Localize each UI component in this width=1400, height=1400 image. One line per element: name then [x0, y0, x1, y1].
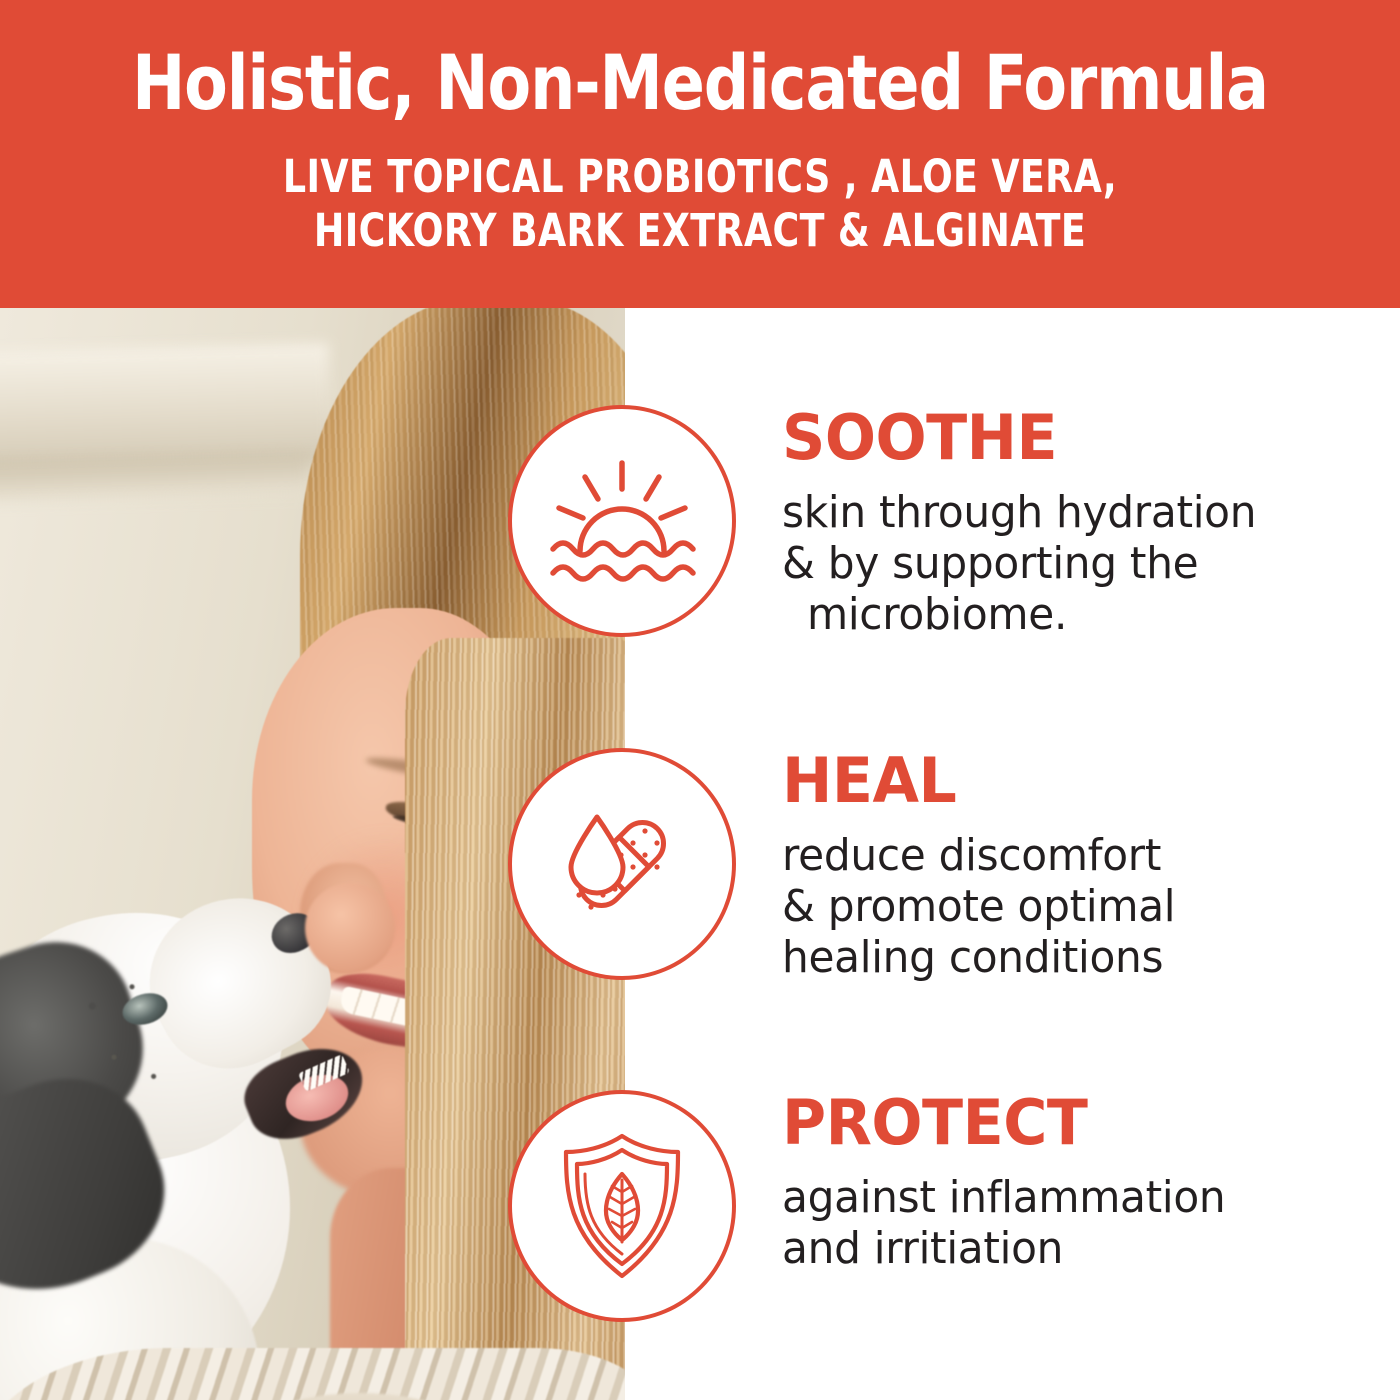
benefit-item-heal: HEAL reduce discomfort & promote optimal… [508, 748, 1192, 983]
benefit-item-protect: PROTECT against inflammation and irritia… [508, 1090, 1244, 1322]
benefit-body-line-1: skin through hydration [782, 487, 1256, 538]
bandage-with-droplet-icon [508, 748, 736, 980]
benefit-body-heal: reduce discomfort & promote optimal heal… [782, 830, 1175, 983]
benefit-body-protect: against inflammation and irritiation [782, 1172, 1225, 1274]
sunrise-over-water-icon [508, 405, 736, 637]
benefit-body-line-2: & promote optimal [782, 881, 1175, 932]
benefit-title-protect: PROTECT [782, 1092, 1230, 1154]
benefit-body-soothe: skin through hydration & by supporting t… [782, 487, 1256, 640]
benefit-body-line-2: & by supporting the [782, 538, 1256, 589]
benefit-text-heal: HEAL reduce discomfort & promote optimal… [782, 748, 1192, 983]
benefits-panel: SOOTHE skin through hydration & by suppo… [625, 308, 1400, 1400]
page-title: Holistic, Non-Medicated Formula [49, 0, 1351, 122]
benefit-title-heal: HEAL [782, 750, 1179, 812]
benefit-item-soothe: SOOTHE skin through hydration & by suppo… [508, 405, 1276, 640]
header-subtitle: LIVE TOPICAL PROBIOTICS , ALOE VERA, HIC… [70, 150, 1330, 260]
benefit-body-line-2: and irritiation [782, 1223, 1225, 1274]
benefit-title-soothe: SOOTHE [782, 407, 1261, 469]
benefit-body-line-3: microbiome. [782, 589, 1256, 640]
benefit-body-line-3: healing conditions [782, 932, 1175, 983]
header-subtitle-line-2: HICKORY BARK EXTRACT & ALGINATE [70, 204, 1330, 259]
benefit-text-protect: PROTECT against inflammation and irritia… [782, 1090, 1244, 1274]
benefit-body-line-1: against inflammation [782, 1172, 1225, 1223]
benefit-body-line-1: reduce discomfort [782, 830, 1175, 881]
header-banner: Holistic, Non-Medicated Formula LIVE TOP… [0, 0, 1400, 308]
woman-hand [305, 883, 395, 973]
shield-with-leaf-icon [508, 1090, 736, 1322]
benefit-text-soothe: SOOTHE skin through hydration & by suppo… [782, 405, 1276, 640]
product-benefits-infographic: Holistic, Non-Medicated Formula LIVE TOP… [0, 0, 1400, 1400]
header-subtitle-line-1: LIVE TOPICAL PROBIOTICS , ALOE VERA, [70, 150, 1330, 205]
